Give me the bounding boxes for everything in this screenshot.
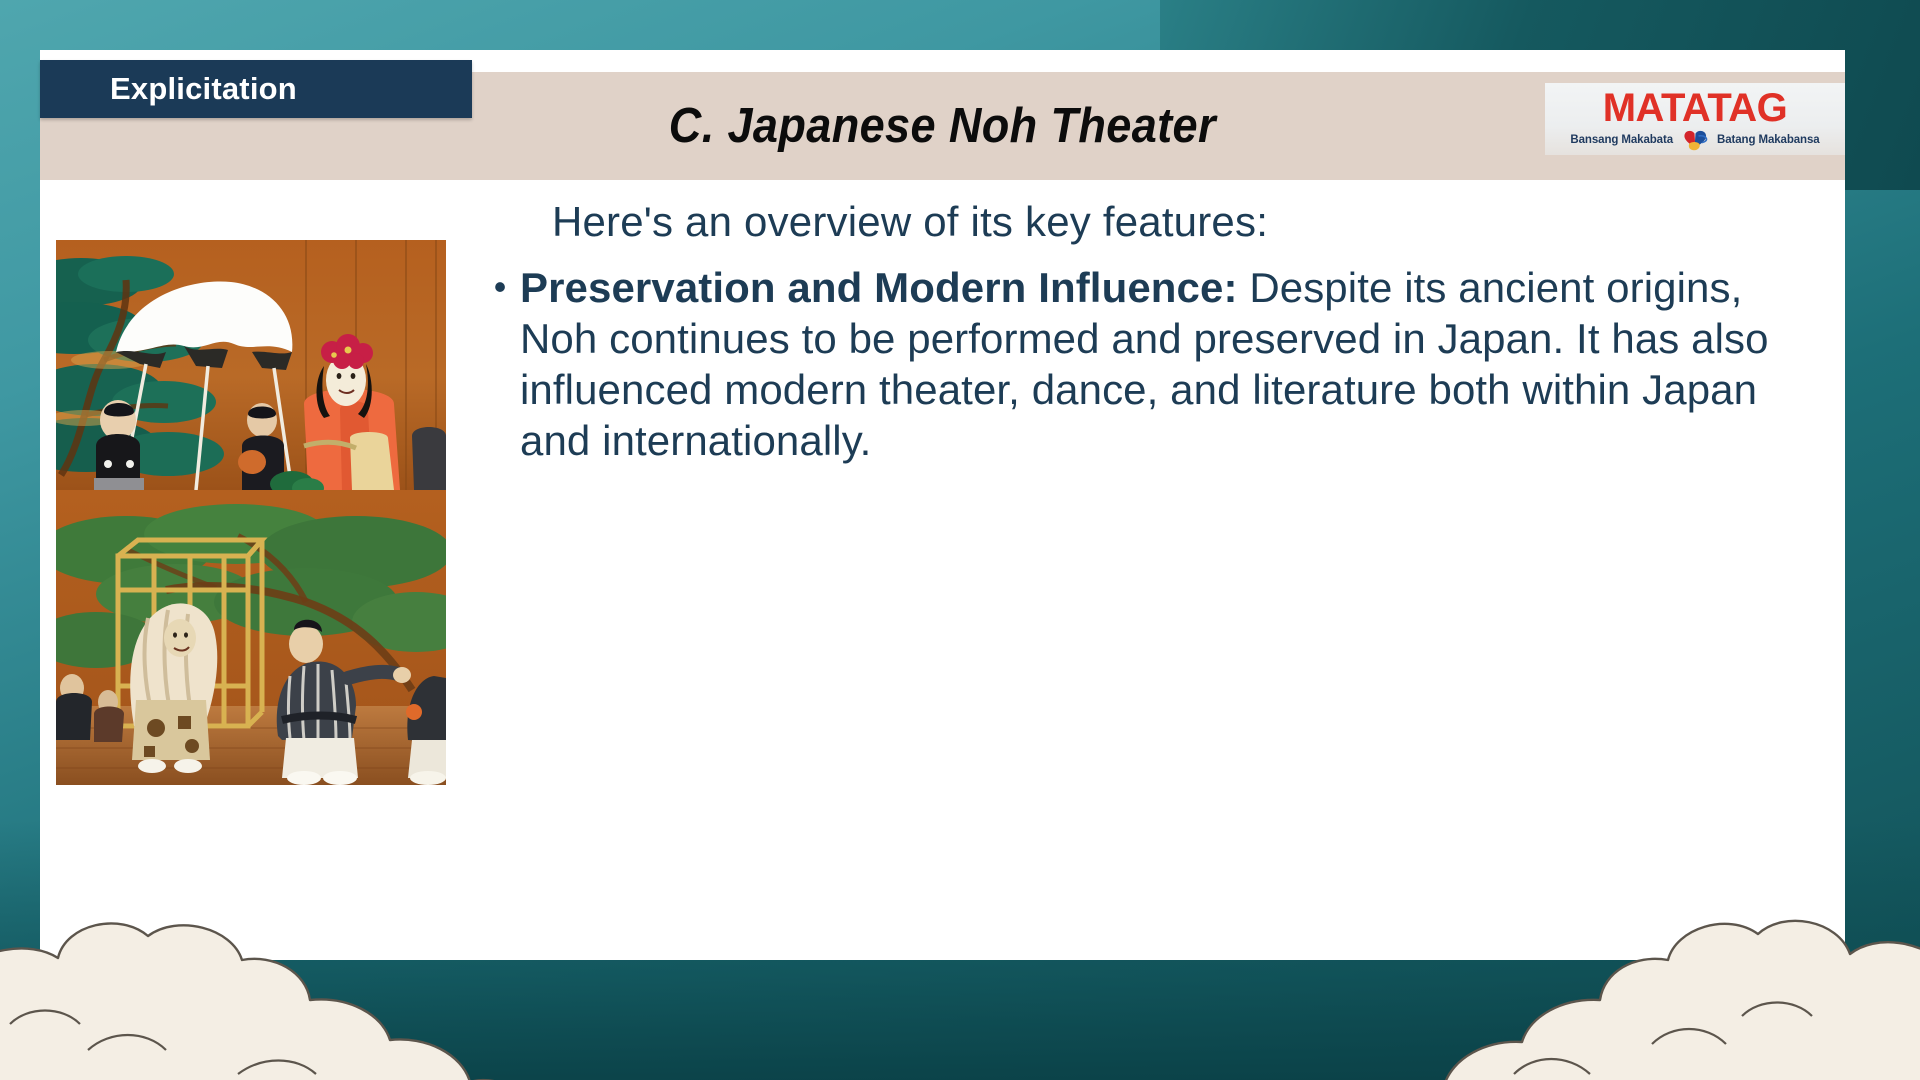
bullet-list: • Preservation and Modern Influence: Des…	[480, 262, 1810, 466]
cloud-decoration-left	[0, 808, 590, 1080]
section-banner-label: Explicitation	[110, 71, 297, 107]
page-title: C. Japanese Noh Theater	[669, 98, 1216, 154]
slide-canvas: Explicitation C. Japanese Noh Theater He…	[0, 0, 1920, 1080]
list-item: • Preservation and Modern Influence: Des…	[480, 262, 1810, 466]
photo-column	[56, 240, 446, 785]
cloud-decoration-right	[1290, 802, 1920, 1080]
bullet-text: Preservation and Modern Influence: Despi…	[520, 262, 1810, 466]
slide-subtitle: Here's an overview of its key features:	[40, 198, 1780, 246]
bullet-marker: •	[480, 262, 520, 312]
noh-cage-illustration	[56, 490, 446, 785]
matatag-logo: MATATAG Bansang Makabata Batang Makabans…	[1545, 83, 1845, 155]
matatag-wordmark: MATATAG	[1603, 89, 1788, 127]
bullet-lead-label: Preservation and Modern Influence:	[520, 264, 1238, 311]
matatag-tagline: Bansang Makabata Batang Makabansa	[1570, 129, 1819, 151]
section-banner: Explicitation	[40, 60, 472, 118]
tagline-right-text: Batang Makabansa	[1717, 134, 1820, 146]
noh-umbrella-illustration	[56, 240, 446, 490]
tagline-left-text: Bansang Makabata	[1570, 134, 1673, 146]
heart-hands-icon	[1678, 129, 1712, 151]
noh-performance-umbrella-photo	[56, 240, 446, 490]
noh-performance-cage-photo	[56, 490, 446, 785]
